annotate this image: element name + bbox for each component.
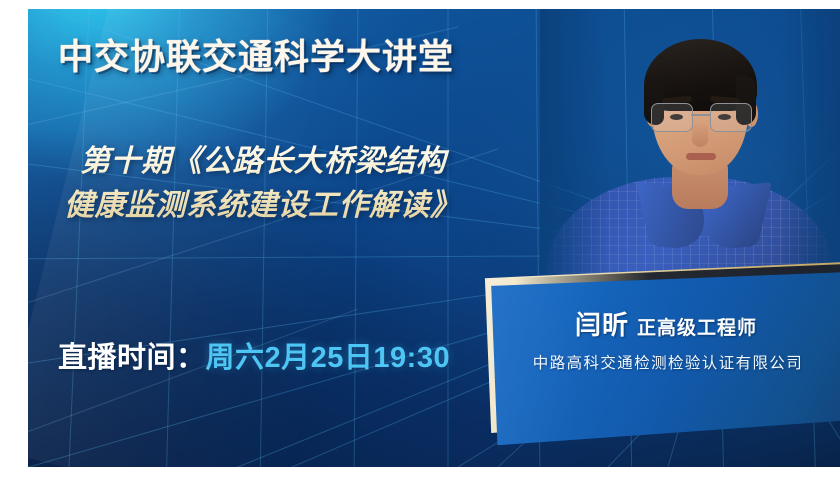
speaker-info-panel: 闫昕正高级工程师 中路高科交通检测检验认证有限公司 (473, 261, 840, 447)
live-time-value: 周六2月25日19:30 (206, 342, 451, 374)
speaker-job-title: 正高级工程师 (637, 318, 757, 339)
portrait-nose (692, 121, 708, 147)
speaker-company: 中路高科交通检测检验认证有限公司 (481, 351, 840, 373)
subtitle-line-1: 第十期《公路长大桥梁结构 (62, 140, 582, 184)
subtitle-line-2: 健康监测系统建设工作解读》 (62, 184, 582, 228)
poster-artwork-canvas: 中交协联交通科学大讲堂 第十期《公路长大桥梁结构 健康监测系统建设工作解读》 直… (28, 9, 840, 467)
poster-white-frame: 中交协联交通科学大讲堂 第十期《公路长大桥梁结构 健康监测系统建设工作解读》 直… (0, 0, 840, 480)
subtitle: 第十期《公路长大桥梁结构 健康监测系统建设工作解读》 (62, 140, 582, 228)
speaker-name-row: 闫昕正高级工程师 (481, 305, 840, 342)
live-time-label: 直播时间： (58, 342, 206, 374)
portrait-mouth (686, 153, 716, 160)
live-time-row: 直播时间：周六2月25日19:30 (58, 334, 450, 376)
speaker-name: 闫昕 (575, 310, 629, 340)
speaker-panel-text: 闫昕正高级工程师 中路高科交通检测检验认证有限公司 (481, 269, 840, 447)
page-title: 中交协联交通科学大讲堂 (58, 29, 454, 80)
